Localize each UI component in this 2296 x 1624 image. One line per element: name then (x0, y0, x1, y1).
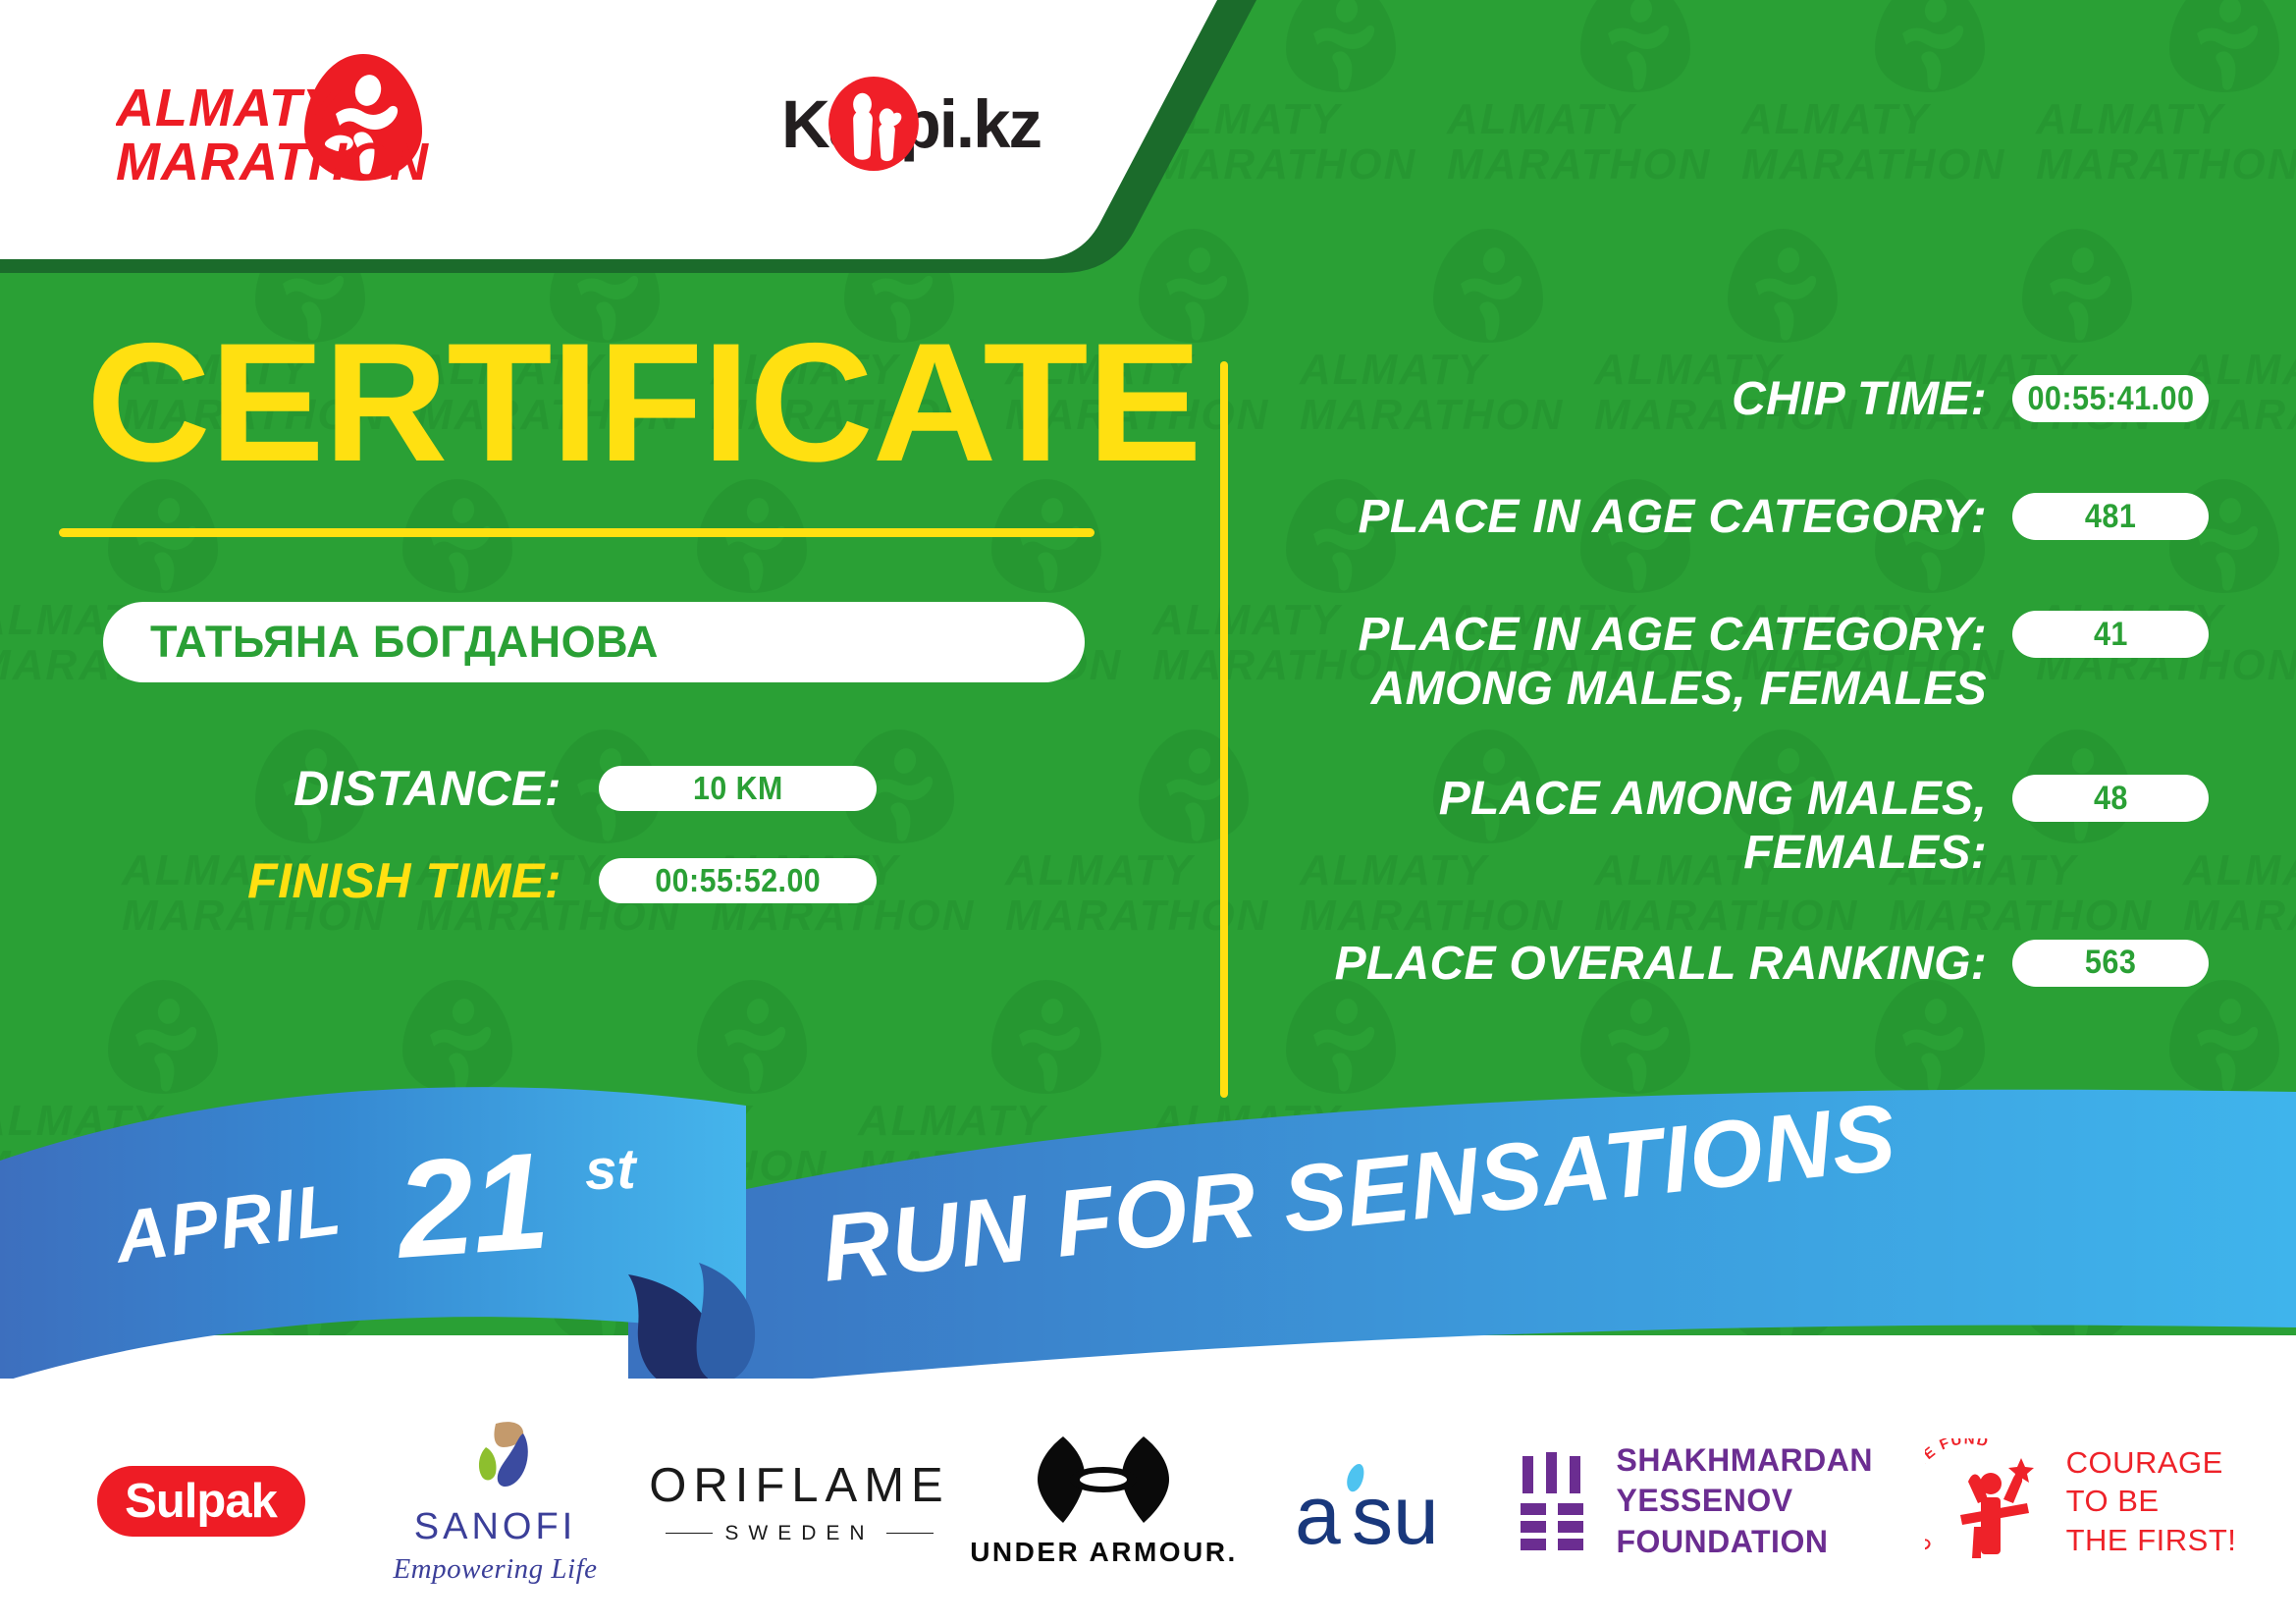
oriflame-rule-left (666, 1533, 713, 1535)
field-value-distance-pill: 10 KM (599, 766, 877, 811)
participant-name-field: ТАТЬЯНА БОГДАНОВА (103, 602, 1085, 682)
certificate-page: ALMATYMARATHONALMATYMARATHONALMATYMARATH… (0, 0, 2296, 1624)
yessenov-name-line2: FOUNDATION (1617, 1522, 1919, 1563)
svg-text:ALMATY: ALMATY (116, 79, 343, 137)
courage-line1: COURAGE (2066, 1443, 2237, 1482)
courage-line3: THE FIRST! (2066, 1521, 2237, 1559)
stat-value-pill: 48 (2012, 775, 2209, 822)
svg-text:ALMATY: ALMATY (1446, 95, 1637, 143)
ribbon-day: 21 (392, 1121, 552, 1290)
title-divider (59, 528, 1095, 537)
stat-value-pill: 41 (2012, 611, 2209, 658)
sponsor-logo-sanofi: SANOFI Empowering Life (348, 1418, 643, 1586)
oriflame-rule-right (886, 1533, 934, 1535)
field-value-finish-time: 00:55:52.00 (655, 862, 821, 899)
almaty-marathon-logo: ALMATY MARATHON (116, 51, 440, 184)
yessenov-name: SHAKHMARDAN YESSENOV FOUNDATION (1617, 1440, 1919, 1563)
svg-text:MARATHON: MARATHON (2036, 140, 2296, 189)
under-armour-name: UNDER ARMOUR. (970, 1537, 1238, 1568)
stat-label-line1: PLACE IN AGE CATEGORY: (1359, 491, 1987, 543)
stat-value: 41 (2094, 616, 2128, 654)
sponsor-logo-oriflame: ORIFLAME SWEDEN (643, 1458, 957, 1545)
kaspi-logo: Kaspi.kz (677, 77, 1070, 171)
sponsor-bar: Sulpak SANOFI Empowering Life ORIFLAME (0, 1379, 2296, 1624)
sponsor-logo-sulpak: Sulpak (54, 1466, 348, 1537)
sponsor-logo-yessenov: SHAKHMARDAN YESSENOV FOUNDATION (1517, 1440, 1919, 1563)
stat-value: 563 (2085, 944, 2136, 982)
oriflame-name: ORIFLAME (649, 1458, 949, 1513)
field-label-finish-time: FINISH TIME: (0, 855, 599, 907)
sponsor-logo-asu: a su (1252, 1447, 1517, 1555)
stat-row: PLACE IN AGE CATEGORY: 481 (1276, 491, 2209, 552)
svg-text:ALMATY: ALMATY (2035, 95, 2226, 143)
yessenov-name-line1: SHAKHMARDAN YESSENOV (1617, 1440, 1919, 1522)
stat-row: PLACE AMONG MALES, FEMALES: 48 (1276, 773, 2209, 880)
oriflame-sub: SWEDEN (724, 1522, 874, 1545)
courage-line2: TO BE (2066, 1482, 2237, 1520)
sanofi-name: SANOFI (393, 1506, 597, 1548)
stat-row: PLACE OVERALL RANKING: 563 (1276, 938, 2209, 999)
watermark-tile: ALMATYMARATHON (1728, 0, 2022, 211)
yessenov-mark-icon (1517, 1452, 1591, 1550)
stat-label: PLACE AMONG MALES, FEMALES: (1276, 773, 2012, 880)
sulpak-label: Sulpak (125, 1474, 277, 1529)
stat-label: CHIP TIME: (1276, 373, 2012, 427)
header-panel: ALMATY MARATHON Kaspi.kz (0, 0, 1394, 290)
kaspi-people-icon (677, 79, 764, 169)
svg-text:ALMATY: ALMATY (1740, 95, 1932, 143)
watermark-tile: ALMATYMARATHON (2022, 0, 2296, 211)
oriflame-sub-wrap: SWEDEN (649, 1522, 949, 1545)
field-value-finish-time-pill: 00:55:52.00 (599, 858, 877, 903)
watermark-tile: ALMATYMARATHON (1433, 0, 1728, 211)
stat-label-line1: CHIP TIME: (1732, 373, 1987, 425)
ribbon-ordinal: st (584, 1136, 636, 1203)
certificate-title: CERTIFICATE (86, 324, 1230, 483)
sulpak-badge: Sulpak (97, 1466, 305, 1537)
field-value-distance: 10 KM (693, 770, 783, 807)
stat-label-line1: PLACE AMONG MALES, (1439, 773, 1987, 825)
svg-text:MARATHON: MARATHON (1741, 140, 2005, 189)
courage-text: COURAGE TO BE THE FIRST! (2066, 1443, 2237, 1558)
left-column: CERTIFICATE ТАТЬЯНА БОГДАНОВА DISTANCE: … (0, 324, 1207, 948)
under-armour-mark-icon (1034, 1435, 1173, 1525)
svg-text:MARATHON: MARATHON (1447, 140, 1711, 189)
stat-label: PLACE OVERALL RANKING: (1276, 938, 2012, 992)
stat-label-line1: PLACE IN AGE CATEGORY: (1359, 609, 1987, 661)
sponsor-logo-under-armour: UNDER ARMOUR. (957, 1435, 1252, 1568)
sponsor-logo-courage: CORPORATE FUND COURAGE TO BE THE FIRS (1919, 1438, 2243, 1564)
stat-label-line2: FEMALES: (1276, 827, 1987, 881)
field-label-distance: DISTANCE: (0, 763, 599, 815)
asu-mark-icon: a su (1291, 1447, 1477, 1555)
svg-text:su: su (1352, 1469, 1439, 1555)
svg-text:a: a (1295, 1469, 1341, 1555)
stat-label: PLACE IN AGE CATEGORY: (1276, 491, 2012, 545)
sanofi-mark-icon (453, 1418, 539, 1502)
field-row-finish-time: FINISH TIME: 00:55:52.00 (0, 855, 1207, 907)
courage-runner-icon: CORPORATE FUND (1925, 1438, 2053, 1564)
vertical-divider (1220, 361, 1228, 1098)
stats-column: CHIP TIME: 00:55:41.00 PLACE IN AGE CATE… (1276, 373, 2209, 1056)
stat-value-pill: 481 (2012, 493, 2209, 540)
stat-value-pill: 563 (2012, 940, 2209, 987)
stat-value: 481 (2085, 498, 2136, 536)
stat-label-line2: AMONG MALES, FEMALES (1276, 663, 1987, 717)
stat-value-pill: 00:55:41.00 (2012, 375, 2209, 422)
svg-text:MARATHON: MARATHON (116, 133, 429, 184)
participant-name-value: ТАТЬЯНА БОГДАНОВА (150, 617, 659, 668)
stat-value: 48 (2094, 780, 2128, 818)
stat-value: 00:55:41.00 (2027, 380, 2194, 418)
certificate-fields: DISTANCE: 10 KM FINISH TIME: 00:55:52.00 (0, 763, 1207, 907)
field-row-distance: DISTANCE: 10 KM (0, 763, 1207, 815)
stat-label: PLACE IN AGE CATEGORY: AMONG MALES, FEMA… (1276, 609, 2012, 716)
sanofi-tagline: Empowering Life (393, 1553, 597, 1586)
stat-row: CHIP TIME: 00:55:41.00 (1276, 373, 2209, 434)
stat-row: PLACE IN AGE CATEGORY: AMONG MALES, FEMA… (1276, 609, 2209, 716)
stat-label-line1: PLACE OVERALL RANKING: (1335, 938, 1987, 990)
